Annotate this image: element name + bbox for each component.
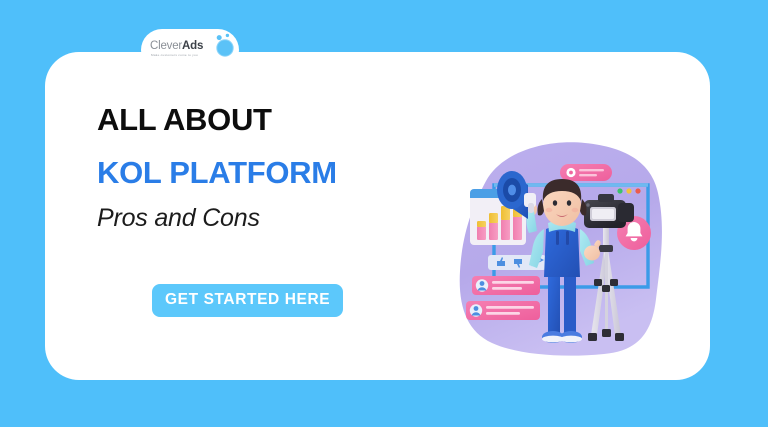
hero-illustration <box>452 137 672 359</box>
comment-bubble-1 <box>472 276 540 295</box>
live-badge <box>560 164 612 181</box>
circles-bubble-icon <box>210 32 236 58</box>
page-subtitle: Pros and Cons <box>97 204 397 233</box>
page-title-line-2: KOL PLATFORM <box>97 157 397 190</box>
brand-word-ads: Ads <box>182 40 203 52</box>
brand-logo-pill[interactable]: CleverAds Make customers come to you <box>141 29 239 71</box>
brand-logo: CleverAds Make customers come to you <box>147 35 233 65</box>
page-title-line-1: ALL ABOUT <box>97 104 397 137</box>
brand-wordmark: CleverAds <box>150 40 203 52</box>
brand-tagline: Make customers come to you <box>151 53 198 57</box>
get-started-button[interactable]: GET STARTED HERE <box>152 284 343 317</box>
hero-text-block: ALL ABOUT KOL PLATFORM Pros and Cons <box>97 104 397 233</box>
comment-bubble-2 <box>466 301 540 320</box>
window-dots <box>617 188 640 193</box>
brand-word-clever: Clever <box>150 40 182 52</box>
